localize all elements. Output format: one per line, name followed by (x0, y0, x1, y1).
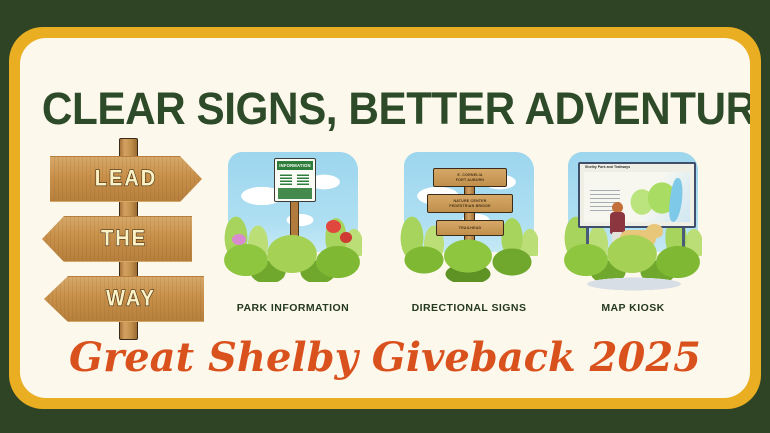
qr-code-icon (280, 173, 292, 185)
arrow-sign-lead-label: LEAD (95, 166, 157, 192)
info-sign-header: INFORMATION (277, 161, 313, 170)
information-sign-board: INFORMATION (274, 158, 316, 202)
poster-panel: CLEAR SIGNS, BETTER ADVENTURES LEAD THE … (20, 38, 750, 398)
river-shape (667, 177, 685, 222)
park-map-graphic (584, 172, 690, 222)
bush-foliage (396, 220, 542, 282)
red-flower-icon (326, 220, 341, 233)
campaign-tagline: Great Shelby Giveback 2025 (20, 338, 750, 378)
arrow-sign-way: WAY (44, 276, 204, 322)
info-sign-body (278, 188, 312, 199)
pink-flower-icon (232, 234, 246, 245)
bush-foliage (560, 220, 706, 282)
directional-board-2-line2: PEDESTRIAN BRIDGE (449, 204, 491, 209)
card-directional-signs: E. CORNELIA FORT AUBURN NATURE CENTER PE… (394, 146, 544, 298)
map-kiosk-title: Shelby Park and Trailways (585, 165, 630, 169)
card-label-map-kiosk: MAP KIOSK (558, 302, 708, 314)
bush-foliage (220, 220, 366, 282)
page-title: CLEAR SIGNS, BETTER ADVENTURES (42, 86, 728, 131)
directional-board-1: E. CORNELIA FORT AUBURN (433, 168, 507, 187)
park-information-illustration: INFORMATION (218, 146, 368, 298)
card-park-information: INFORMATION PARK INFORMATION (218, 146, 368, 298)
card-map-kiosk: Shelby Park and Trailways (558, 146, 708, 298)
illustration-card-group: INFORMATION PARK INFORMATION (210, 146, 740, 336)
lead-the-way-signpost: LEAD THE WAY (42, 138, 212, 338)
arrow-sign-the: THE (42, 216, 192, 262)
ground-path (564, 276, 702, 292)
directional-board-1-line2: FORT AUBURN (456, 178, 484, 183)
directional-signs-illustration: E. CORNELIA FORT AUBURN NATURE CENTER PE… (394, 146, 544, 298)
qr-code-icon (297, 173, 309, 185)
card-label-park-information: PARK INFORMATION (218, 302, 368, 314)
map-kiosk-board: Shelby Park and Trailways (578, 162, 696, 228)
map-kiosk-illustration: Shelby Park and Trailways (558, 146, 708, 298)
arrow-sign-the-label: THE (101, 226, 147, 252)
directional-board-2: NATURE CENTER PEDESTRIAN BRIDGE (427, 194, 513, 213)
poster-canvas: CLEAR SIGNS, BETTER ADVENTURES LEAD THE … (0, 0, 770, 433)
card-label-directional-signs: DIRECTIONAL SIGNS (394, 302, 544, 314)
red-flower-icon (340, 232, 352, 243)
arrow-sign-way-label: WAY (106, 286, 156, 312)
arrow-sign-lead: LEAD (50, 156, 202, 202)
